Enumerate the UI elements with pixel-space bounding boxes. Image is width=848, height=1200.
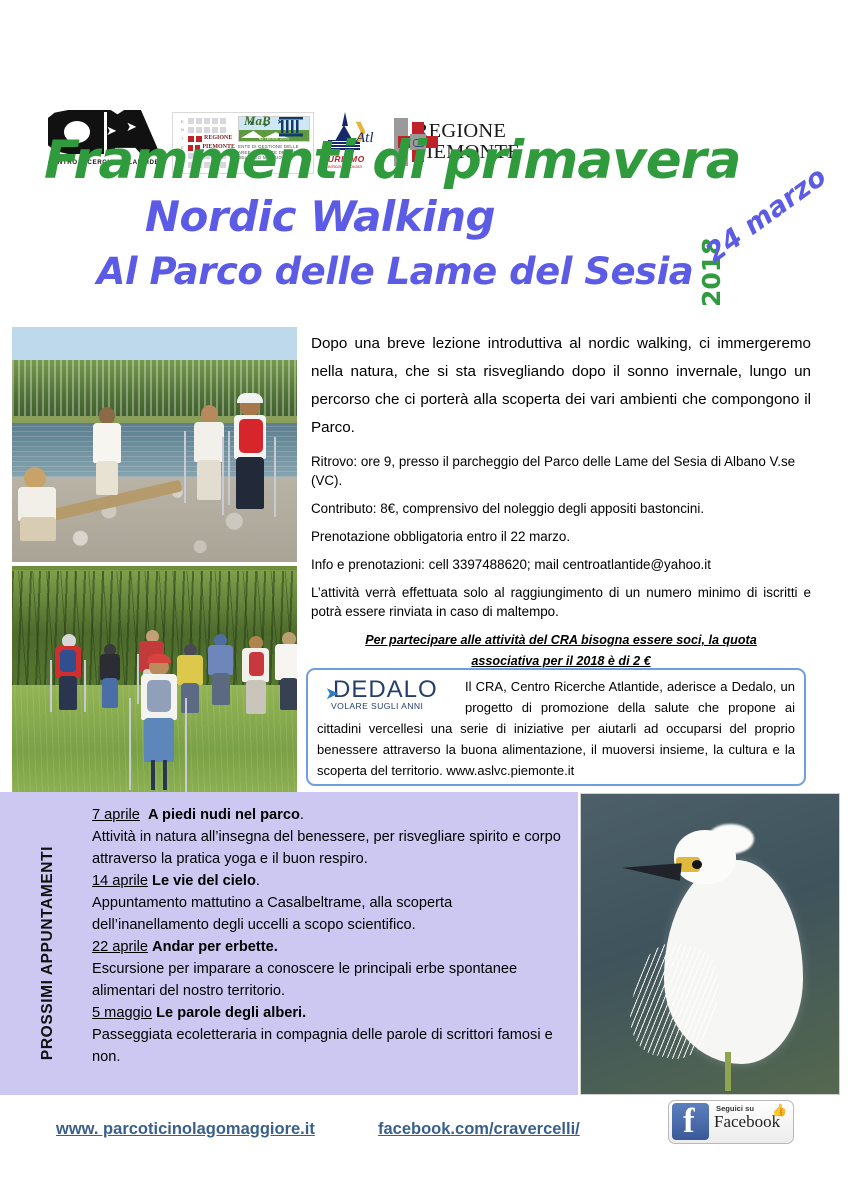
photo-egret bbox=[580, 793, 840, 1095]
appointment-title: Le vie del cielo bbox=[152, 873, 256, 889]
appointment-heading: 5 maggio Le parole degli alberi. bbox=[92, 1002, 564, 1024]
logo-bar: ➤ ➤ ➤ CENTRO RICERCHE ATLANTIDE E N TREG… bbox=[0, 52, 848, 130]
facebook-link[interactable]: facebook.com/cravercelli/ bbox=[378, 1120, 580, 1139]
poster-subtitle: Nordic Walking bbox=[0, 192, 640, 242]
appointment-heading: 14 aprile Le vie del cielo. bbox=[92, 870, 564, 892]
walker-foreground bbox=[127, 654, 189, 794]
thumbs-up-icon: 👍 bbox=[772, 1103, 787, 1117]
appointment-body: Passeggiata ecoletteraria in compagnia d… bbox=[92, 1024, 564, 1068]
upcoming-events-label: PROSSIMI APPUNTAMENTI bbox=[39, 813, 57, 1093]
mab-label: MaB bbox=[244, 114, 274, 127]
appointment-title: Andar per erbette. bbox=[152, 939, 278, 955]
person-red-backpack bbox=[224, 393, 276, 521]
appointment-date: 14 aprile bbox=[92, 873, 148, 889]
photo-meadow-group bbox=[12, 566, 297, 794]
person-seated bbox=[16, 467, 62, 545]
info-text: Info e prenotazioni: cell 3397488620; ma… bbox=[311, 555, 811, 574]
facebook-badge[interactable]: f Seguici su Facebook 👍 bbox=[668, 1100, 794, 1146]
prenotazione-text: Prenotazione obbligatoria entro il 22 ma… bbox=[311, 527, 811, 546]
person-standing bbox=[90, 407, 124, 497]
appointments-list: 7 aprile A piedi nudi nel parco. Attivit… bbox=[92, 804, 564, 1068]
ritrovo-text: Ritrovo: ore 9, presso il parcheggio del… bbox=[311, 452, 811, 490]
facebook-name-label: Facebook bbox=[714, 1112, 780, 1132]
appointment-title: A piedi nudi nel parco bbox=[148, 807, 300, 823]
soci-note-line2: associativa per il 2018 è di 2 € bbox=[471, 654, 650, 668]
walker bbox=[240, 636, 272, 718]
soci-note-line1: Per partecipare alle attività del CRA bi… bbox=[365, 633, 756, 647]
dedalo-bird-icon: ➤ bbox=[325, 684, 339, 704]
disclaimer-text: L’attività verrà effettuata solo al ragg… bbox=[311, 583, 811, 621]
appointment-body: Appuntamento mattutino a Casalbeltrame, … bbox=[92, 892, 564, 936]
upcoming-events-panel: PROSSIMI APPUNTAMENTI 7 aprile A piedi n… bbox=[0, 792, 578, 1095]
title-block: Frammenti di primavera 2018 Nordic Walki… bbox=[0, 132, 848, 318]
walker bbox=[98, 644, 122, 710]
poster-title: Frammenti di primavera bbox=[44, 132, 744, 190]
facebook-icon: f bbox=[672, 1103, 709, 1140]
dedalo-tagline: VOLARE SUGLI ANNI bbox=[331, 701, 457, 711]
appointment-body: Escursione per imparare a conoscere le p… bbox=[92, 958, 564, 1002]
body-text-column: Dopo una breve lezione introduttiva al n… bbox=[311, 330, 811, 678]
appointment-heading: 22 aprile Andar per erbette. bbox=[92, 936, 564, 958]
intro-paragraph: Dopo una breve lezione introduttiva al n… bbox=[311, 330, 811, 442]
appointment-title: Le parole degli alberi. bbox=[156, 1005, 306, 1021]
poster-location: Al Parco delle Lame del Sesia bbox=[0, 250, 790, 294]
dedalo-logo: ➤ DEDALO VOLARE SUGLI ANNI bbox=[317, 678, 457, 718]
poster: ➤ ➤ ➤ CENTRO RICERCHE ATLANTIDE E N TREG… bbox=[0, 0, 848, 1200]
dedalo-box: ➤ DEDALO VOLARE SUGLI ANNI Il CRA, Centr… bbox=[306, 668, 806, 786]
appointment-date: 22 aprile bbox=[92, 939, 148, 955]
walker bbox=[274, 632, 297, 714]
website-link[interactable]: www. parcoticinolagomaggiore.it bbox=[56, 1120, 315, 1139]
walker bbox=[52, 634, 86, 714]
contributo-text: Contributo: 8€, comprensivo del noleggio… bbox=[311, 499, 811, 518]
photo-river-group bbox=[12, 327, 297, 562]
appointment-date: 5 maggio bbox=[92, 1005, 152, 1021]
appointment-heading: 7 aprile A piedi nudi nel parco. bbox=[92, 804, 564, 826]
dedalo-wordmark: DEDALO bbox=[333, 678, 457, 702]
appointment-date: 7 aprile bbox=[92, 807, 140, 823]
soci-note: Per partecipare alle attività del CRA bi… bbox=[311, 630, 811, 672]
appointment-body: Attività in natura all’insegna del benes… bbox=[92, 826, 564, 870]
walker bbox=[206, 634, 236, 712]
